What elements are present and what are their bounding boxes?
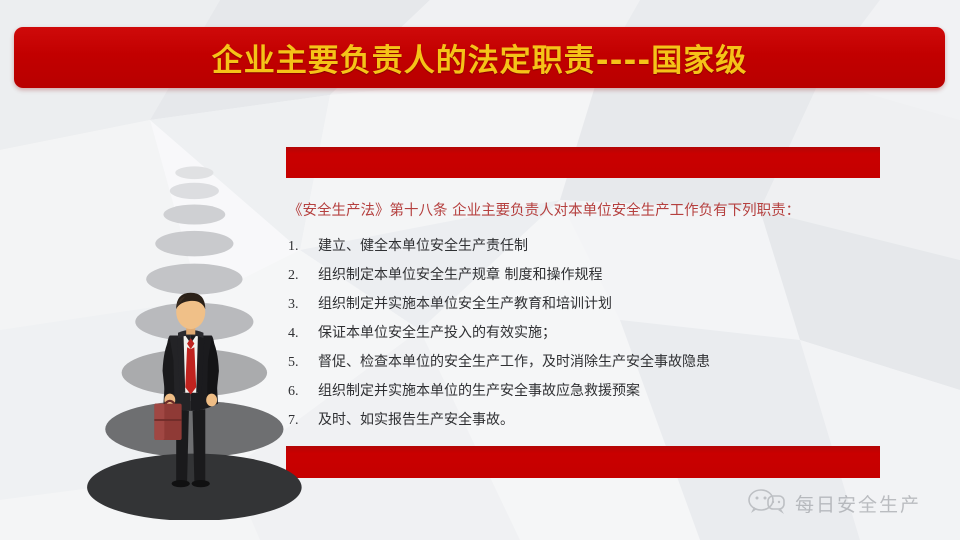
page-title: 企业主要负责人的法定职责----国家级	[212, 35, 747, 80]
list-item-number: 4.	[288, 320, 318, 348]
duty-list: 1. 建立、健全本单位安全生产责任制 2. 组织制定本单位安全生产规章 制度和操…	[288, 232, 888, 435]
content-block: 《安全生产法》第十八条 企业主要负责人对本单位安全生产工作负有下列职责： 1. …	[288, 196, 888, 435]
list-item: 7. 及时、如实报告生产安全事故。	[288, 406, 888, 435]
list-item-text: 督促、检查本单位的安全生产工作，及时消除生产安全事故隐患	[318, 348, 888, 376]
list-item: 6. 组织制定并实施本单位的生产安全事故应急救援预案	[288, 377, 888, 406]
list-item-number: 5.	[288, 349, 318, 377]
accent-bar-top	[286, 147, 880, 178]
intro-paragraph: 《安全生产法》第十八条 企业主要负责人对本单位安全生产工作负有下列职责：	[288, 196, 866, 226]
list-item-text: 及时、如实报告生产安全事故。	[318, 406, 888, 434]
list-item-text: 组织制定本单位安全生产规章 制度和操作规程	[318, 261, 888, 289]
list-item-number: 7.	[288, 407, 318, 435]
list-item: 5. 督促、检查本单位的安全生产工作，及时消除生产安全事故隐患	[288, 348, 888, 377]
title-banner: 企业主要负责人的法定职责----国家级	[14, 27, 945, 88]
list-item-number: 3.	[288, 291, 318, 319]
list-item-text: 建立、健全本单位安全生产责任制	[318, 232, 888, 260]
slide-canvas: 企业主要负责人的法定职责----国家级	[0, 0, 960, 540]
businessman-illustration	[28, 120, 328, 520]
list-item: 2. 组织制定本单位安全生产规章 制度和操作规程	[288, 261, 888, 290]
list-item: 4. 保证本单位安全生产投入的有效实施；	[288, 319, 888, 348]
accent-bar-bottom	[286, 446, 880, 478]
list-item: 3. 组织制定并实施本单位安全生产教育和培训计划	[288, 290, 888, 319]
list-item-text: 组织制定并实施本单位的生产安全事故应急救援预案	[318, 377, 888, 405]
watermark-label: 每日安全生产	[795, 490, 921, 517]
list-item-number: 6.	[288, 378, 318, 406]
list-item-text: 组织制定并实施本单位安全生产教育和培训计划	[318, 290, 888, 318]
list-item-number: 2.	[288, 262, 318, 290]
list-item-text: 保证本单位安全生产投入的有效实施；	[318, 319, 888, 347]
watermark: 每日安全生产	[748, 488, 921, 518]
list-item: 1. 建立、健全本单位安全生产责任制	[288, 232, 888, 261]
wechat-icon	[748, 488, 786, 518]
list-item-number: 1.	[288, 233, 318, 261]
